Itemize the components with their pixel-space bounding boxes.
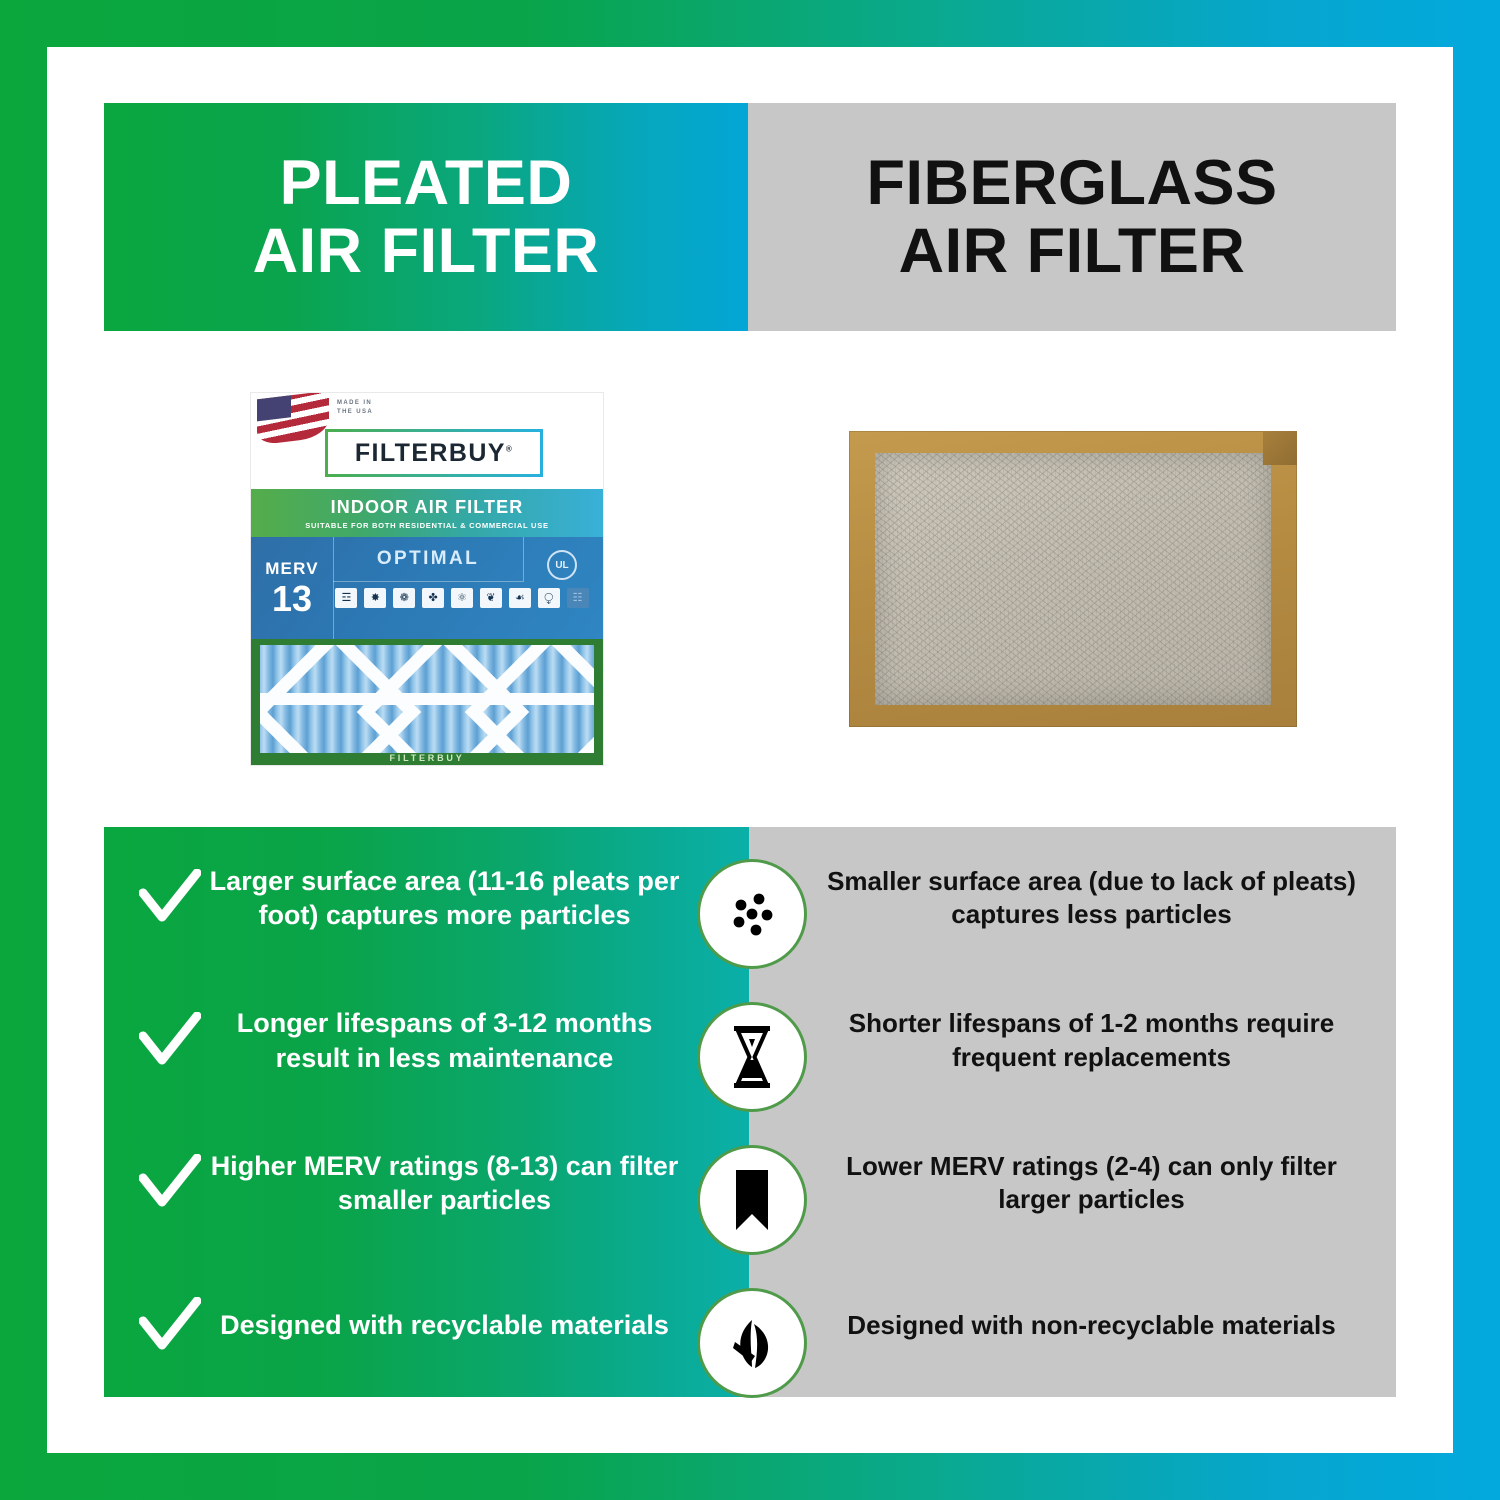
pleated-media-area: FILTERBUY: [251, 639, 603, 765]
pleat-texture: [260, 645, 594, 753]
product-images-row: MADE IN THE USA FILTERBUY® INDOOR AIR FI…: [104, 331, 1396, 827]
comparison-row: Designed with recyclable materials: [104, 1255, 749, 1398]
filterbuy-logo: FILTERBUY®: [325, 429, 543, 477]
leaf-icon: [697, 1288, 807, 1398]
comparison-row: Higher MERV ratings (8-13) can filter sm…: [104, 1112, 749, 1255]
bookmark-icon: [697, 1145, 807, 1255]
hourglass-icon: [697, 1002, 807, 1112]
band-title: INDOOR AIR FILTER: [331, 497, 524, 518]
comparison-row: Designed with non-recyclable materials: [749, 1255, 1396, 1398]
comparison-right-text: Smaller surface area (due to lack of ple…: [817, 865, 1366, 932]
infographic-frame: PLEATED AIR FILTER FIBERGLASS AIR FILTER: [47, 47, 1453, 1453]
comparison-left-text: Larger surface area (11-16 pleats per fo…: [206, 864, 683, 933]
band-subtitle: SUITABLE FOR BOTH RESIDENTIAL & COMMERCI…: [305, 521, 549, 530]
pleated-label-top: MADE IN THE USA FILTERBUY®: [251, 393, 603, 489]
smoke-icon: ☙: [509, 588, 531, 608]
particles-icon: [697, 859, 807, 969]
feature-icon-pollen: ❁: [391, 588, 418, 608]
checkmark-icon: [134, 869, 206, 927]
fiberglass-mesh-texture: [875, 453, 1271, 705]
feature-icon-bacteria: ⧬: [535, 588, 562, 608]
feature-icon-dander: ❦: [477, 588, 504, 608]
feature-icon-smoke: ☙: [506, 588, 533, 608]
made-in-usa-text: MADE IN THE USA: [337, 399, 373, 416]
dust-mites-icon: ✸: [364, 588, 386, 608]
merv-value: 13: [272, 581, 312, 617]
header-pleated-line1: PLEATED: [253, 149, 600, 217]
comparison-right-text: Shorter lifespans of 1-2 months require …: [817, 1007, 1366, 1074]
tier-label: OPTIMAL: [333, 537, 524, 582]
indoor-air-filter-band: INDOOR AIR FILTER SUITABLE FOR BOTH RESI…: [251, 489, 603, 537]
merv-band: MERV 13 OPTIMAL UL ☲ ✸ ❁ ✤ ⚛: [251, 537, 603, 639]
disabled-feature-icon: ☷: [567, 588, 589, 608]
merv-rating-block: MERV 13: [251, 537, 334, 639]
comparison-right-text: Lower MERV ratings (2-4) can only filter…: [817, 1150, 1366, 1217]
fiberglass-product-cell: [750, 331, 1396, 827]
dander-icon: ❦: [480, 588, 502, 608]
comparison-left-rows: Larger surface area (11-16 pleats per fo…: [104, 827, 749, 1397]
comparison-right-column: Smaller surface area (due to lack of ple…: [749, 827, 1396, 1397]
feature-icon-mold: ✤: [420, 588, 447, 608]
comparison-left-text: Longer lifespans of 3-12 months result i…: [206, 1006, 683, 1075]
usa-flag-icon: [257, 393, 329, 445]
pollen-icon: ❁: [393, 588, 415, 608]
pleated-filter-image: MADE IN THE USA FILTERBUY® INDOOR AIR FI…: [251, 393, 603, 765]
feature-icon-household-dust: ☲: [333, 588, 360, 608]
header-fiberglass: FIBERGLASS AIR FILTER: [748, 103, 1396, 331]
comparison-row: Shorter lifespans of 1-2 months require …: [749, 970, 1396, 1113]
checkmark-icon: [134, 1154, 206, 1212]
header-fiberglass-line1: FIBERGLASS: [866, 149, 1277, 217]
header-pleated-line2: AIR FILTER: [253, 217, 600, 285]
checkmark-icon: [134, 1297, 206, 1355]
header-fiberglass-line2: AIR FILTER: [866, 217, 1277, 285]
ul-listed-badge: UL: [535, 543, 589, 587]
filterbuy-logo-text: FILTERBUY®: [355, 439, 513, 468]
ul-circle-icon: UL: [547, 550, 577, 580]
pleated-footer-brand: FILTERBUY: [251, 753, 603, 763]
feature-icon-dust-mites: ✸: [362, 588, 389, 608]
checkmark-icon: [134, 1012, 206, 1070]
comparison-row: Smaller surface area (due to lack of ple…: [749, 827, 1396, 970]
made-in-line1: MADE IN: [337, 399, 373, 408]
pleated-product-cell: MADE IN THE USA FILTERBUY® INDOOR AIR FI…: [104, 331, 750, 827]
lint-icon: ⚛: [451, 588, 473, 608]
comparison-left-column: Larger surface area (11-16 pleats per fo…: [104, 827, 749, 1397]
comparison-right-text: Designed with non-recyclable materials: [817, 1309, 1366, 1342]
fiberglass-frame-corner: [1263, 431, 1297, 465]
header-fiberglass-title: FIBERGLASS AIR FILTER: [866, 149, 1277, 285]
comparison-left-text: Higher MERV ratings (8-13) can filter sm…: [206, 1149, 683, 1218]
mold-icon: ✤: [422, 588, 444, 608]
comparison-right-rows: Smaller surface area (due to lack of ple…: [749, 827, 1396, 1397]
merv-label: MERV: [265, 559, 319, 579]
header-pleated: PLEATED AIR FILTER: [104, 103, 748, 331]
feature-icon-lint: ⚛: [449, 588, 476, 608]
comparison-row: Longer lifespans of 3-12 months result i…: [104, 970, 749, 1113]
header-pleated-title: PLEATED AIR FILTER: [253, 149, 600, 285]
header-band: PLEATED AIR FILTER FIBERGLASS AIR FILTER: [104, 103, 1396, 331]
filter-feature-icons: ☲ ✸ ❁ ✤ ⚛ ❦ ☙ ⧬ ☷: [333, 585, 591, 638]
bacteria-icon: ⧬: [538, 588, 560, 608]
household-dust-icon: ☲: [335, 588, 357, 608]
made-in-line2: THE USA: [337, 408, 373, 417]
infographic-inner: PLEATED AIR FILTER FIBERGLASS AIR FILTER: [104, 103, 1396, 1397]
feature-icon-disabled: ☷: [564, 588, 591, 608]
comparison-left-text: Designed with recyclable materials: [206, 1308, 683, 1343]
comparison-row: Lower MERV ratings (2-4) can only filter…: [749, 1112, 1396, 1255]
comparison-row: Larger surface area (11-16 pleats per fo…: [104, 827, 749, 970]
fiberglass-filter-image: [849, 431, 1297, 727]
